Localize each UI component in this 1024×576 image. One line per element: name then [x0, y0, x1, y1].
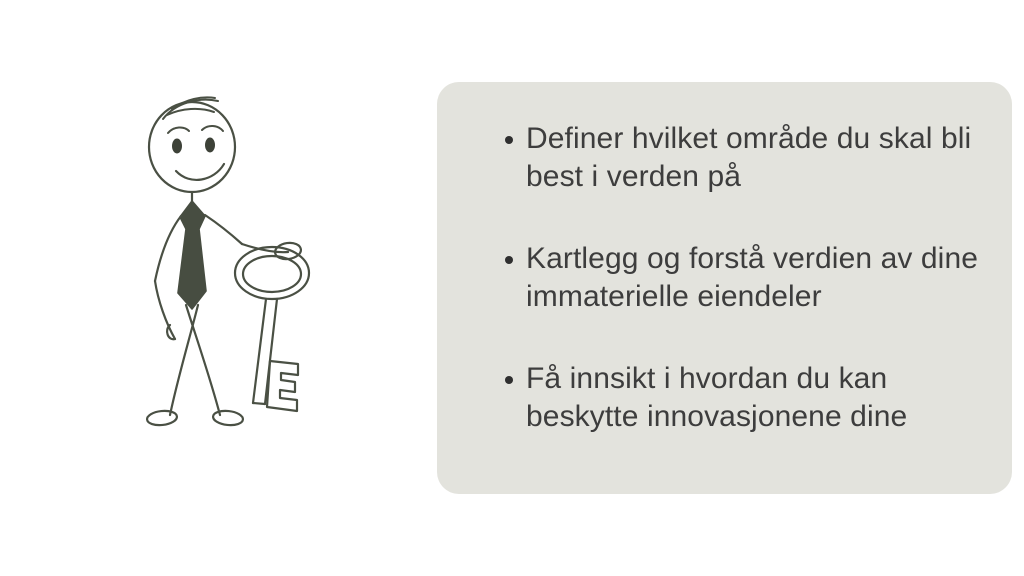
eye-left-icon [172, 139, 182, 154]
foot-left-icon [146, 409, 177, 426]
shoulder-right [205, 215, 242, 244]
foot-right-icon [212, 409, 243, 426]
eyebrow-right-icon [202, 126, 223, 131]
bullet-panel: Definer hvilket område du skal bli best … [437, 82, 1012, 494]
list-item: Definer hvilket område du skal bli best … [469, 120, 982, 196]
stick-figure-with-key-illustration [120, 85, 340, 435]
list-item: Kartlegg og forstå verdien av dine immat… [469, 240, 982, 316]
arm-left [155, 281, 175, 339]
eyebrow-left-icon [168, 127, 189, 133]
bullet-text: Kartlegg og forstå verdien av dine immat… [526, 240, 982, 316]
key-bit-icon [267, 361, 298, 411]
head-icon [149, 102, 235, 192]
leg-right [186, 305, 220, 415]
list-item: Få innsikt i hvordan du kan beskytte inn… [469, 360, 982, 436]
bullet-list: Definer hvilket område du skal bli best … [469, 120, 982, 436]
smile-icon [176, 164, 224, 180]
key-bow-icon [235, 241, 309, 299]
leg-left [170, 305, 198, 415]
bullet-text: Få innsikt i hvordan du kan beskytte inn… [526, 360, 982, 436]
bullet-text: Definer hvilket område du skal bli best … [526, 120, 982, 196]
bullet-dot-icon [505, 136, 513, 144]
torso [155, 216, 181, 281]
key-shaft-icon [253, 299, 277, 404]
eye-right-icon [205, 138, 215, 153]
slide-canvas: Definer hvilket område du skal bli best … [0, 0, 1024, 576]
bullet-dot-icon [505, 256, 513, 264]
necktie-icon [178, 201, 206, 309]
bullet-dot-icon [505, 376, 513, 384]
